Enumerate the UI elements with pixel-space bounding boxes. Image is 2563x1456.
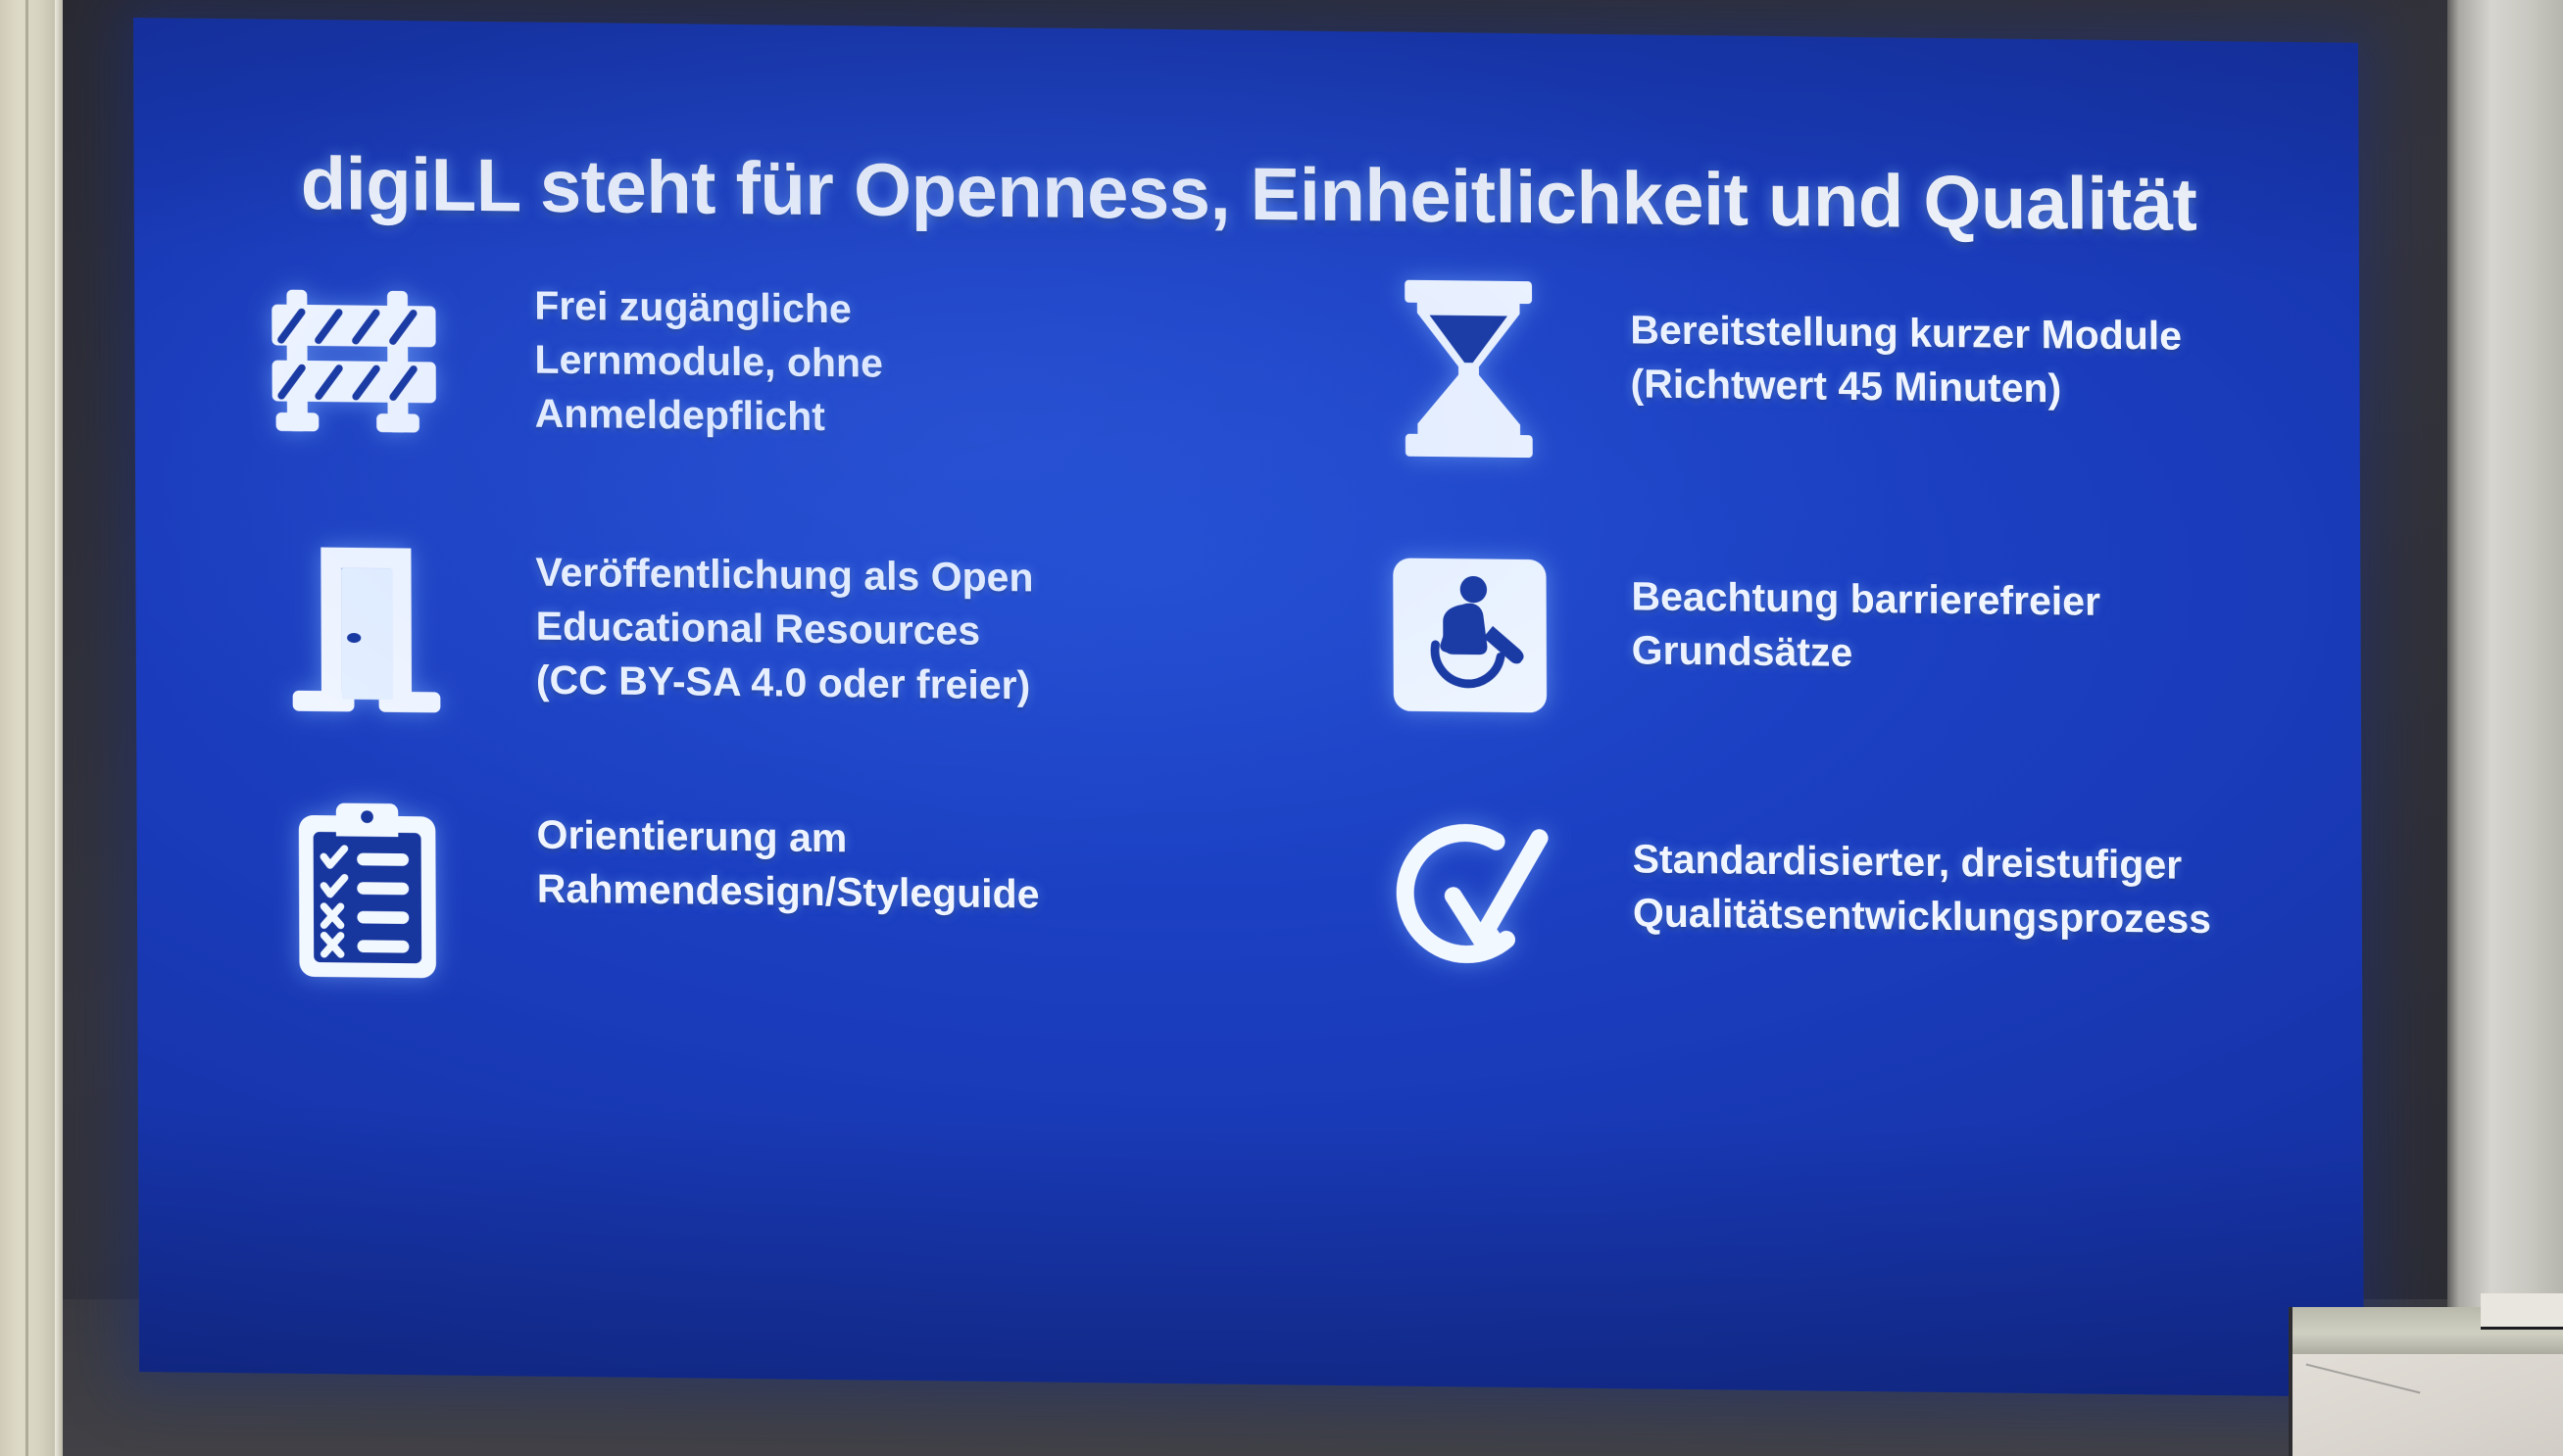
wheelchair-accessibility-icon — [1356, 541, 1583, 730]
feature-line: Educational Resources — [536, 600, 1034, 659]
feature-line: Lernmodule, ohne — [534, 333, 883, 391]
feature-line: Anmeldepflicht — [535, 387, 884, 445]
feature-grid: Frei zugängliche Lernmodule, ohne Anmeld… — [252, 262, 2293, 1069]
flipchart-top-edge — [2481, 1293, 2563, 1330]
slide-title: digiLL steht für Openness, Einheitlichke… — [301, 145, 2222, 245]
cycle-check-icon — [1357, 803, 1584, 993]
feature-item-open-access: Frei zugängliche Lernmodule, ohne Anmeld… — [252, 262, 1272, 540]
feature-item-oer-licence: Veröffentlichung als Open Educational Re… — [253, 528, 1273, 802]
feature-text: Orientierung am Rahmendesign/Styleguide — [479, 794, 1039, 921]
feature-item-quality-process: Standardisierter, dreistufiger Qualitäts… — [1273, 802, 2293, 1069]
projection-room-scene: digiLL steht für Openness, Einheitlichke… — [0, 0, 2563, 1456]
feature-item-styleguide: Orientierung am Rahmendesign/Styleguide — [254, 791, 1274, 1057]
feature-line: Standardisierter, dreistufiger — [1633, 832, 2211, 893]
road-barrier-icon — [252, 262, 478, 461]
feature-line: Rahmendesign/Styleguide — [537, 862, 1040, 922]
projected-slide: digiLL steht für Openness, Einheitlichke… — [133, 18, 2364, 1397]
flipchart — [2271, 1293, 2563, 1456]
feature-line: Beachtung barrierefreier — [1631, 569, 2100, 628]
slide-surface: digiLL steht für Openness, Einheitlichke… — [133, 18, 2364, 1397]
feature-line: Grundsätze — [1632, 623, 2101, 682]
feature-text: Veröffentlichung als Open Educational Re… — [478, 531, 1034, 712]
wall-left — [0, 0, 57, 1456]
feature-line: (Richtwert 45 Minuten) — [1630, 357, 2182, 416]
feature-text: Beachtung barrierefreier Grundsätze — [1582, 544, 2100, 683]
feature-line: (CC BY-SA 4.0 oder freier) — [536, 654, 1034, 713]
feature-line: Orientierung am — [536, 808, 1039, 868]
wall-seam — [25, 0, 28, 1456]
feature-line: Frei zugängliche — [534, 279, 883, 337]
wall-right — [2447, 0, 2563, 1456]
hourglass-icon — [1355, 274, 1582, 463]
feature-item-accessibility: Beachtung barrierefreier Grundsätze — [1272, 540, 2292, 814]
feature-text: Bereitstellung kurzer Module (Richtwert … — [1581, 277, 2182, 417]
feature-item-short-modules: Bereitstellung kurzer Module (Richtwert … — [1271, 273, 2292, 552]
feature-line: Bereitstellung kurzer Module — [1630, 303, 2182, 363]
feature-line: Veröffentlichung als Open — [535, 546, 1033, 606]
wall-left-edge — [55, 0, 63, 1456]
feature-text: Frei zugängliche Lernmodule, ohne Anmeld… — [477, 265, 883, 445]
feature-text: Standardisierter, dreistufiger Qualitäts… — [1583, 806, 2211, 946]
clipboard-checklist-icon — [254, 791, 480, 990]
open-door-icon — [253, 528, 479, 727]
feature-line: Qualitätsentwicklungsprozess — [1633, 886, 2211, 946]
